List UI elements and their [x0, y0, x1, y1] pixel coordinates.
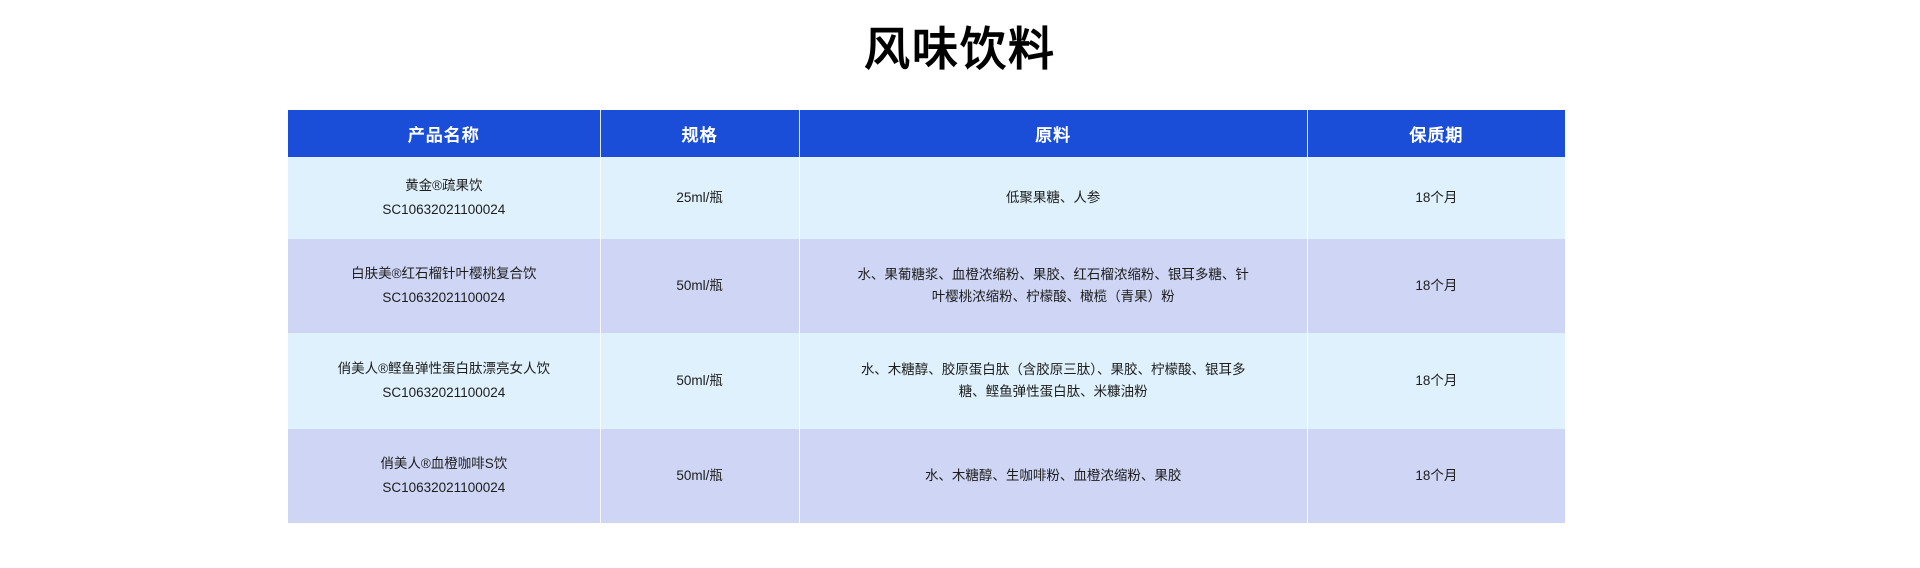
- product-code-text: SC10632021100024: [298, 287, 590, 309]
- cell-product-name: 俏美人®血橙咖啡S饮 SC10632021100024: [288, 429, 600, 523]
- ingredients-text: 水、木糖醇、生咖啡粉、血橙浓缩粉、果胶: [853, 465, 1253, 487]
- cell-product-name: 白肤美®红石榴针叶樱桃复合饮 SC10632021100024: [288, 239, 600, 333]
- product-spec-table: 产品名称 规格 原料 保质期 黄金®疏果饮 SC10632021100024 2…: [288, 110, 1565, 523]
- page-title: 风味饮料: [0, 14, 1920, 84]
- cell-specification: 50ml/瓶: [600, 239, 799, 333]
- column-header-shelf-life: 保质期: [1307, 110, 1565, 157]
- table-row: 俏美人®鲣鱼弹性蛋白肽漂亮女人饮 SC10632021100024 50ml/瓶…: [288, 333, 1565, 429]
- product-name-text: 俏美人®鲣鱼弹性蛋白肽漂亮女人饮: [298, 358, 590, 380]
- table-row: 俏美人®血橙咖啡S饮 SC10632021100024 50ml/瓶 水、木糖醇…: [288, 429, 1565, 523]
- product-spec-table-wrapper: 产品名称 规格 原料 保质期 黄金®疏果饮 SC10632021100024 2…: [288, 110, 1565, 523]
- cell-specification: 50ml/瓶: [600, 333, 799, 429]
- cell-ingredients: 水、木糖醇、生咖啡粉、血橙浓缩粉、果胶: [799, 429, 1307, 523]
- cell-product-name: 黄金®疏果饮 SC10632021100024: [288, 157, 600, 239]
- product-name-text: 白肤美®红石榴针叶樱桃复合饮: [298, 263, 590, 285]
- cell-ingredients: 水、果葡糖浆、血橙浓缩粉、果胶、红石榴浓缩粉、银耳多糖、针叶樱桃浓缩粉、柠檬酸、…: [799, 239, 1307, 333]
- cell-shelf-life: 18个月: [1307, 157, 1565, 239]
- table-body: 黄金®疏果饮 SC10632021100024 25ml/瓶 低聚果糖、人参 1…: [288, 157, 1565, 523]
- table-row: 黄金®疏果饮 SC10632021100024 25ml/瓶 低聚果糖、人参 1…: [288, 157, 1565, 239]
- product-code-text: SC10632021100024: [298, 199, 590, 221]
- cell-shelf-life: 18个月: [1307, 429, 1565, 523]
- column-header-specification: 规格: [600, 110, 799, 157]
- product-code-text: SC10632021100024: [298, 382, 590, 404]
- product-code-text: SC10632021100024: [298, 477, 590, 499]
- product-name-text: 俏美人®血橙咖啡S饮: [298, 453, 590, 475]
- product-name-text: 黄金®疏果饮: [298, 175, 590, 197]
- cell-ingredients: 低聚果糖、人参: [799, 157, 1307, 239]
- table-header: 产品名称 规格 原料 保质期: [288, 110, 1565, 157]
- ingredients-text: 低聚果糖、人参: [853, 187, 1253, 209]
- table-row: 白肤美®红石榴针叶樱桃复合饮 SC10632021100024 50ml/瓶 水…: [288, 239, 1565, 333]
- cell-shelf-life: 18个月: [1307, 239, 1565, 333]
- column-header-ingredients: 原料: [799, 110, 1307, 157]
- cell-specification: 50ml/瓶: [600, 429, 799, 523]
- table-header-row: 产品名称 规格 原料 保质期: [288, 110, 1565, 157]
- page-root: 风味饮料 产品名称 规格 原料 保质期 黄金®疏果饮 SC10632021100…: [0, 0, 1920, 568]
- cell-product-name: 俏美人®鲣鱼弹性蛋白肽漂亮女人饮 SC10632021100024: [288, 333, 600, 429]
- column-header-product-name: 产品名称: [288, 110, 600, 157]
- cell-ingredients: 水、木糖醇、胶原蛋白肽（含胶原三肽）、果胶、柠檬酸、银耳多糖、鲣鱼弹性蛋白肽、米…: [799, 333, 1307, 429]
- ingredients-text: 水、果葡糖浆、血橙浓缩粉、果胶、红石榴浓缩粉、银耳多糖、针叶樱桃浓缩粉、柠檬酸、…: [853, 264, 1253, 308]
- cell-specification: 25ml/瓶: [600, 157, 799, 239]
- cell-shelf-life: 18个月: [1307, 333, 1565, 429]
- ingredients-text: 水、木糖醇、胶原蛋白肽（含胶原三肽）、果胶、柠檬酸、银耳多糖、鲣鱼弹性蛋白肽、米…: [853, 359, 1253, 403]
